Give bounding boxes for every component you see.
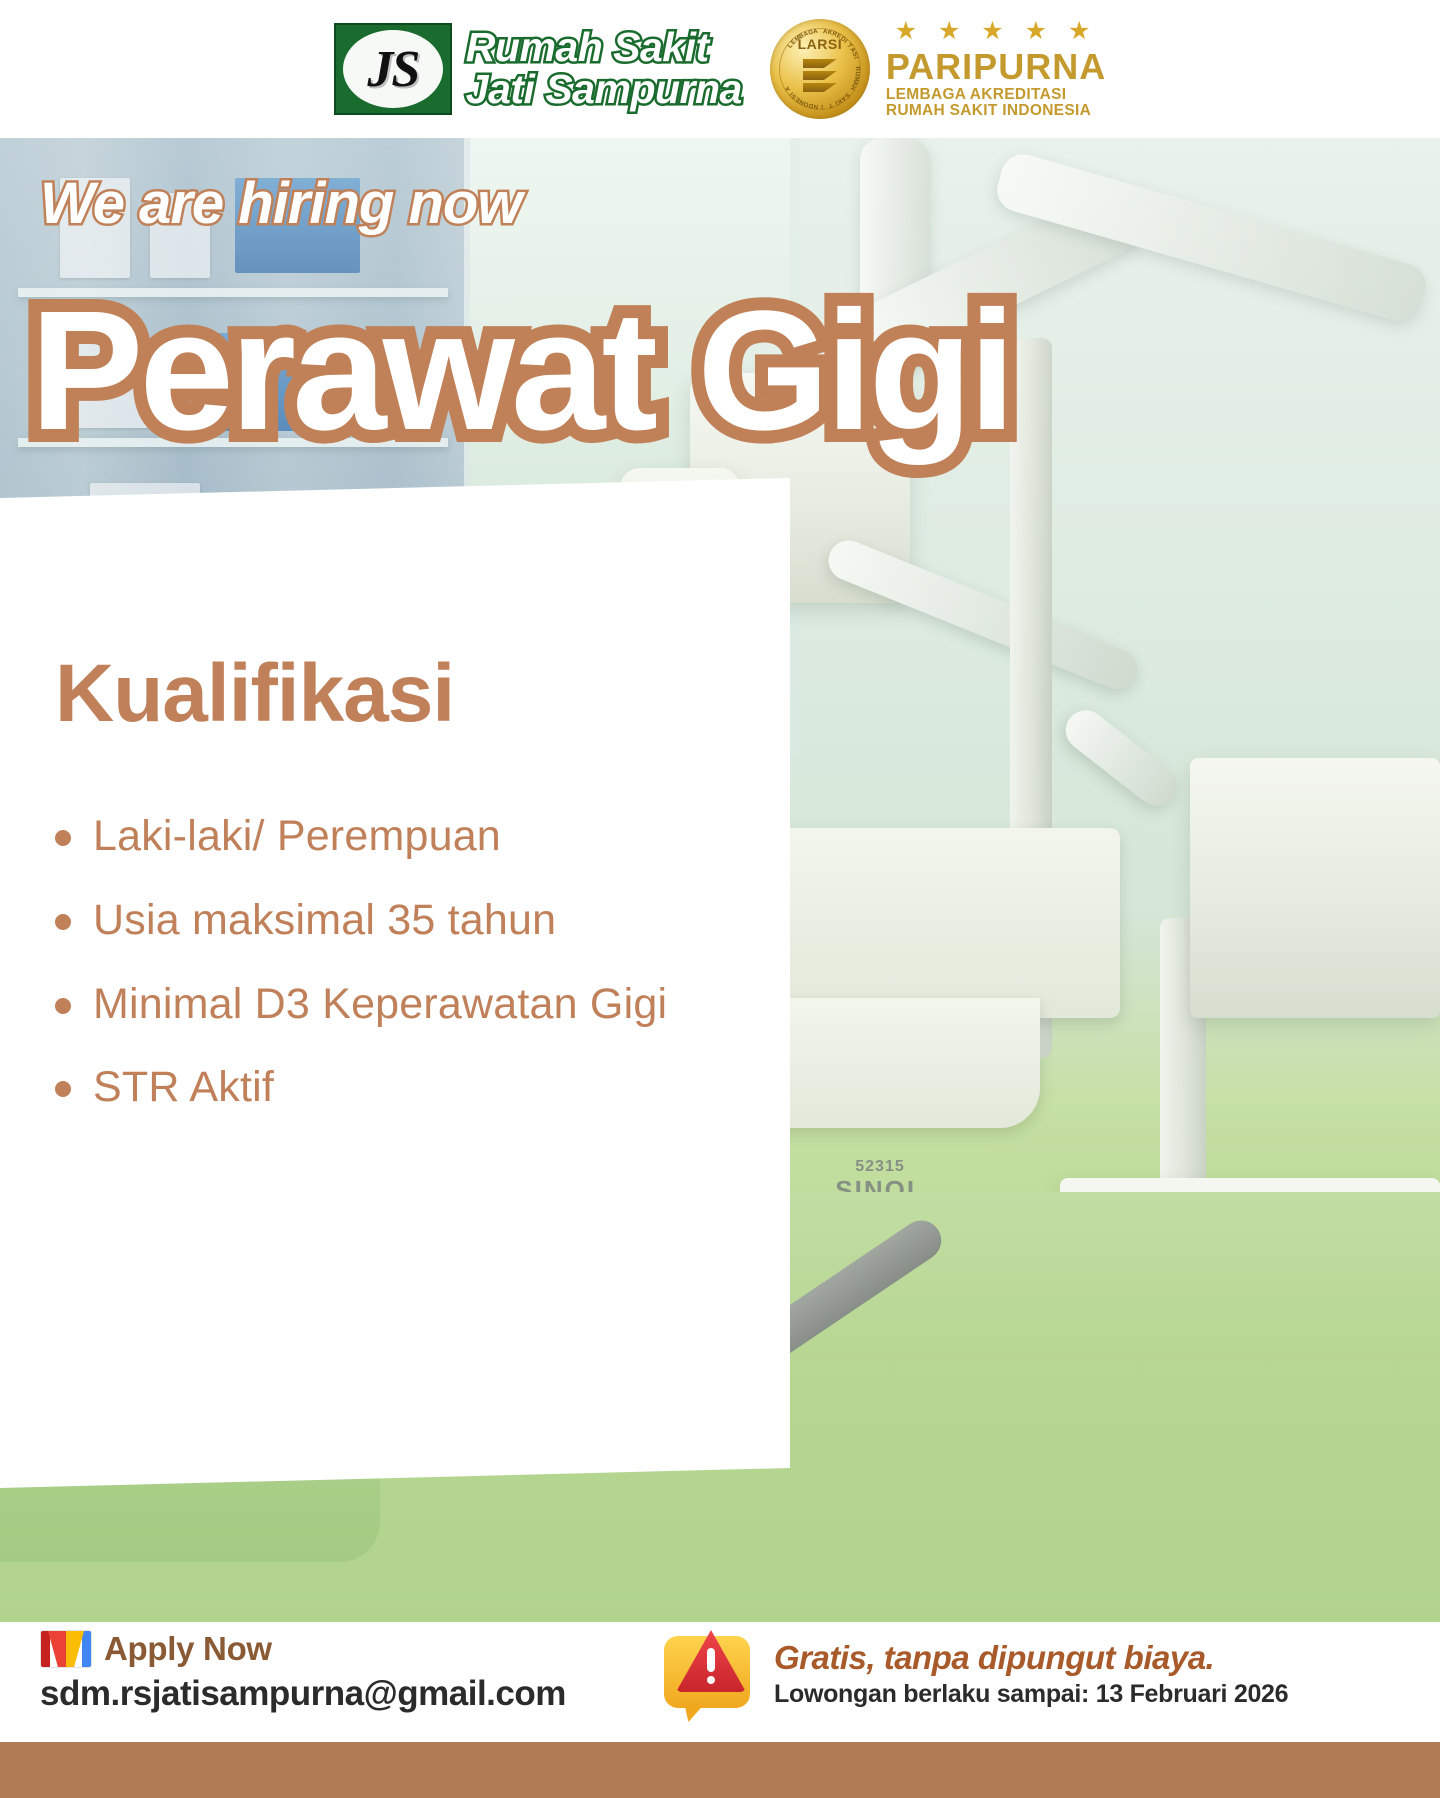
qualification-item: Minimal D3 Keperawatan Gigi: [55, 978, 790, 1032]
gmail-icon: [40, 1630, 92, 1668]
js-monogram: JS: [367, 40, 418, 99]
warning-triangle-icon: [660, 1626, 756, 1722]
hospital-logo: JS Rumah Sakit Jati Sampurna: [334, 23, 742, 115]
bullet-icon: [55, 998, 71, 1014]
accreditation-block: LARSI LEMBAGA AKREDITASI RUMAH SAKIT IND…: [770, 18, 1106, 120]
hospital-name-line2: Jati Sampurna: [466, 69, 742, 111]
seal-circular-text: LEMBAGA AKREDITASI RUMAH SAKIT INDONESIA: [770, 19, 870, 119]
js-logo-badge: JS: [334, 23, 452, 115]
deadline-text: Lowongan berlaku sampai: 13 Februari 202…: [774, 1680, 1288, 1708]
apply-now-label: Apply Now: [104, 1630, 272, 1668]
bullet-icon: [55, 914, 71, 930]
poster-footer: Apply Now sdm.rsjatisampurna@gmail.com G…: [0, 1622, 1440, 1742]
qualification-list: Laki-laki/ PerempuanUsia maksimal 35 tah…: [55, 810, 790, 1115]
bullet-icon: [55, 830, 71, 846]
accreditation-line1: LEMBAGA AKREDITASI: [886, 87, 1106, 104]
bottom-accent-bar: [0, 1742, 1440, 1798]
qualification-item: Laki-laki/ Perempuan: [55, 810, 790, 864]
hero-eyebrow: We are hiring now: [40, 170, 521, 237]
qualification-item: STR Aktif: [55, 1061, 790, 1115]
js-logo-oval: JS: [343, 30, 443, 108]
qualification-heading: Kualifikasi: [55, 653, 790, 735]
larsi-seal-icon: LARSI LEMBAGA AKREDITASI RUMAH SAKIT IND…: [770, 19, 870, 119]
star-rating: ★ ★ ★ ★ ★: [886, 18, 1106, 48]
poster-header: JS Rumah Sakit Jati Sampurna LARSI LEMBA…: [0, 0, 1440, 138]
qualification-item-label: Usia maksimal 35 tahun: [93, 894, 556, 948]
accreditation-text: ★ ★ ★ ★ ★ PARIPURNA LEMBAGA AKREDITASI R…: [886, 18, 1106, 120]
job-title: Perawat Gigi: [30, 286, 1012, 456]
qualification-panel: Kualifikasi Laki-laki/ PerempuanUsia mak…: [0, 478, 790, 1488]
qualification-item-label: Minimal D3 Keperawatan Gigi: [93, 978, 667, 1032]
hero-section: 52315 SINOL We are hiring now Perawat Gi…: [0, 138, 1440, 1622]
qualification-item-label: Laki-laki/ Perempuan: [93, 810, 501, 864]
hospital-name-line1: Rumah Sakit: [466, 27, 742, 69]
qualification-item: Usia maksimal 35 tahun: [55, 894, 790, 948]
bullet-icon: [55, 1081, 71, 1097]
free-notice: Gratis, tanpa dipungut biaya.: [774, 1640, 1288, 1677]
hospital-name: Rumah Sakit Jati Sampurna: [466, 27, 742, 111]
application-email[interactable]: sdm.rsjatisampurna@gmail.com: [40, 1674, 566, 1714]
notice-block: Gratis, tanpa dipungut biaya. Lowongan b…: [660, 1626, 1288, 1722]
qualification-item-label: STR Aktif: [93, 1061, 274, 1115]
apply-block: Apply Now sdm.rsjatisampurna@gmail.com: [40, 1630, 566, 1714]
accreditation-line2: RUMAH SAKIT INDONESIA: [886, 103, 1106, 120]
accreditation-grade: PARIPURNA: [886, 48, 1106, 87]
